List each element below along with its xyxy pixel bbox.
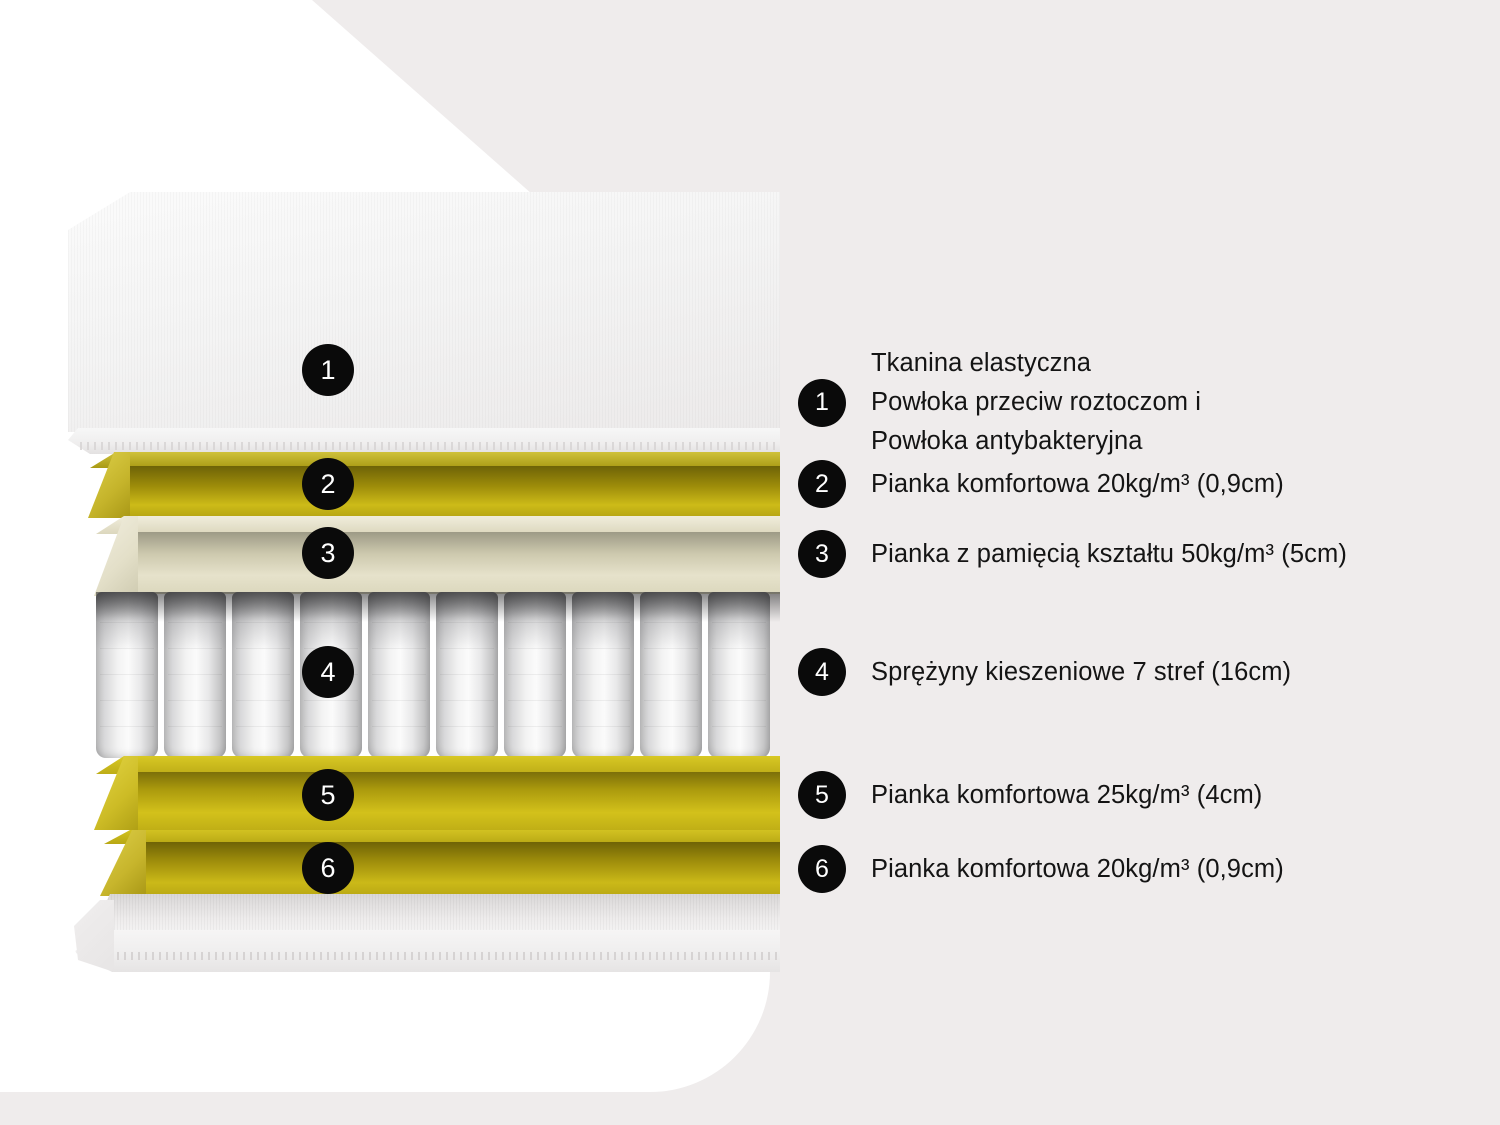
overlay-badge-6: 6 xyxy=(302,842,354,894)
pocket-spring xyxy=(96,592,158,758)
base-stitch-seam xyxy=(96,952,780,960)
legend-item-1[interactable]: 1Tkanina elastyczna Powłoka przeciw rozt… xyxy=(798,344,1201,461)
layer-3-memoryfoam-top xyxy=(96,516,780,534)
legend-item-2[interactable]: 2Pianka komfortowa 20kg/m³ (0,9cm) xyxy=(798,460,1284,508)
legend-label-2: Pianka komfortowa 20kg/m³ (0,9cm) xyxy=(871,465,1284,504)
overlay-badge-5: 5 xyxy=(302,769,354,821)
layer-5-foam-top xyxy=(96,756,780,774)
legend-badge-2: 2 xyxy=(798,460,846,508)
pocket-spring xyxy=(164,592,226,758)
layer-2-foam-top xyxy=(90,452,780,468)
legend-item-6[interactable]: 6Pianka komfortowa 20kg/m³ (0,9cm) xyxy=(798,845,1284,893)
mattress-cutaway-illustration: 123456 xyxy=(0,0,790,1000)
pocket-spring xyxy=(368,592,430,758)
legend-badge-6: 6 xyxy=(798,845,846,893)
base-cover-left-wall xyxy=(74,900,114,972)
legend-label-6: Pianka komfortowa 20kg/m³ (0,9cm) xyxy=(871,850,1284,889)
layer-1-cover-top xyxy=(68,192,780,432)
layer-3-memoryfoam-face xyxy=(96,532,780,594)
pocket-spring xyxy=(436,592,498,758)
legend-list: 1Tkanina elastyczna Powłoka przeciw rozt… xyxy=(798,0,1498,1125)
pocket-spring xyxy=(708,592,770,758)
pocket-spring xyxy=(232,592,294,758)
diagram-canvas: 123456 1Tkanina elastyczna Powłoka przec… xyxy=(0,0,1500,1125)
legend-item-5[interactable]: 5Pianka komfortowa 25kg/m³ (4cm) xyxy=(798,771,1262,819)
legend-badge-1: 1 xyxy=(798,379,846,427)
overlay-badge-1: 1 xyxy=(302,344,354,396)
legend-item-3[interactable]: 3Pianka z pamięcią kształtu 50kg/m³ (5cm… xyxy=(798,530,1347,578)
layer-4-pocket-springs xyxy=(96,592,780,758)
pocket-spring xyxy=(504,592,566,758)
legend-label-1: Tkanina elastyczna Powłoka przeciw rozto… xyxy=(871,344,1201,461)
layer-1-cover-side xyxy=(68,428,780,454)
legend-badge-5: 5 xyxy=(798,771,846,819)
layer-6-foam-top xyxy=(104,830,780,844)
layer-2-foam-face xyxy=(90,466,780,516)
pocket-spring xyxy=(640,592,702,758)
layer-5-foam-face xyxy=(96,772,780,830)
layer-6-foam-face xyxy=(104,842,780,896)
legend-label-4: Sprężyny kieszeniowe 7 stref (16cm) xyxy=(871,653,1291,692)
base-cover-top xyxy=(90,894,780,936)
legend-label-5: Pianka komfortowa 25kg/m³ (4cm) xyxy=(871,776,1262,815)
legend-item-4[interactable]: 4Sprężyny kieszeniowe 7 stref (16cm) xyxy=(798,648,1291,696)
overlay-badge-2: 2 xyxy=(302,458,354,510)
legend-badge-3: 3 xyxy=(798,530,846,578)
legend-badge-4: 4 xyxy=(798,648,846,696)
base-cover-face xyxy=(74,930,780,972)
pocket-spring xyxy=(572,592,634,758)
layer-1-stitch-seam xyxy=(80,442,780,450)
overlay-badge-3: 3 xyxy=(302,527,354,579)
legend-label-3: Pianka z pamięcią kształtu 50kg/m³ (5cm) xyxy=(871,535,1347,574)
overlay-badge-4: 4 xyxy=(302,646,354,698)
